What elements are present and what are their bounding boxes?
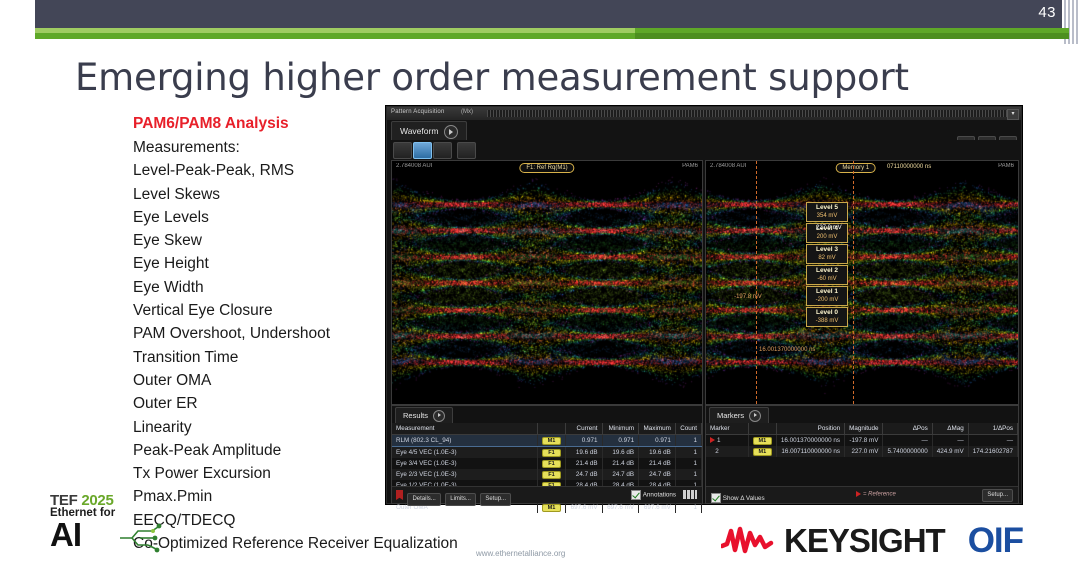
window-title: Pattern Acquisition xyxy=(391,109,445,115)
cell-inv-dpos: — xyxy=(968,435,1017,447)
marker-line-2[interactable] xyxy=(853,161,854,404)
pam-mode-label-right: PAM6 xyxy=(998,163,1014,169)
col-source xyxy=(748,423,776,435)
level-annotation-2[interactable]: Level 2 -60 mV xyxy=(806,265,848,285)
tab-markers-label: Markers xyxy=(717,408,744,423)
level-annotation-1[interactable]: Level 1 -200 mV xyxy=(806,286,848,306)
tef-logo-ai-text: AI xyxy=(50,516,81,553)
eye-diagram-left xyxy=(392,161,702,404)
marker-time-label: 16.001370000000 ns xyxy=(759,347,815,353)
tab-waveform[interactable]: Waveform xyxy=(391,121,467,141)
eye-diagram-right xyxy=(706,161,1018,404)
function-pill-left[interactable]: F1: Ref Rq(M1) xyxy=(519,163,574,173)
cell-minimum: 21.4 dB xyxy=(602,458,639,469)
level-value: 82 mV xyxy=(807,254,847,262)
col-marker: Marker xyxy=(706,423,748,435)
annotations-label: Annotations xyxy=(643,492,676,499)
footer-url: www.ethernetalliance.org xyxy=(476,549,565,558)
oif-wordmark: OIF xyxy=(968,521,1023,561)
reference-marker-icon xyxy=(710,437,715,443)
pam-mode-label-left: PAM6 xyxy=(682,163,698,169)
page-title: Emerging higher order measurement suppor… xyxy=(75,56,975,99)
cell-count: 1 xyxy=(675,447,701,459)
table-row[interactable]: Eye 2/3 VEC (1.0E-3)F124.7 dB24.7 dB24.7… xyxy=(392,469,702,480)
cell-maximum: 0.971 xyxy=(639,435,676,447)
cell-minimum: 19.6 dB xyxy=(602,447,639,459)
cell-marker: 2 xyxy=(706,446,748,457)
cell-current: 0.971 xyxy=(565,435,602,447)
source-badge: F1 xyxy=(542,471,561,479)
circuit-icon xyxy=(118,523,164,553)
view-button-3[interactable] xyxy=(433,142,452,159)
table-row[interactable]: RLM (802.3 CL_94)M10.9710.9710.9711 xyxy=(392,435,702,447)
source-badge: M1 xyxy=(753,448,772,456)
cell-measurement: Eye 4/5 VEC (1.0E-3) xyxy=(392,447,537,459)
results-header-row: Measurement Current Minimum Maximum Coun… xyxy=(392,423,702,435)
markers-pane: Markers Marker Position Magnitude ΔPos Δ… xyxy=(705,405,1019,504)
level-name: Level 5 xyxy=(807,204,847,212)
cell-current: 24.7 dB xyxy=(565,469,602,480)
window-titlebar: Pattern Acquisition (Mx) ▾ xyxy=(387,107,1021,120)
header-green-bar-dark xyxy=(635,33,1069,39)
cell-source: M1 xyxy=(748,446,776,457)
keysight-oif-logos: KEYSIGHT OIF xyxy=(721,521,1023,561)
level-value: -388 mV xyxy=(807,317,847,325)
vertical-scale-label-right: 2.784008 AUI xyxy=(710,163,746,169)
details-button[interactable]: Details... xyxy=(407,493,440,506)
window-title-tab: (Mx) xyxy=(461,109,473,115)
cell-dmag: — xyxy=(932,435,968,447)
cell-magnitude: -197.8 mV xyxy=(845,435,883,447)
play-icon[interactable] xyxy=(749,410,761,422)
col-maximum: Maximum xyxy=(639,423,676,435)
col-current: Current xyxy=(565,423,602,435)
cell-source: F1 xyxy=(537,469,565,480)
waveform-view-right[interactable]: 2.784008 AUI PAM6 Memory 1 07110000000 n… xyxy=(705,160,1019,405)
markers-header-row: Marker Position Magnitude ΔPos ΔMag 1/ΔP… xyxy=(706,423,1018,435)
cell-position: 16.007110000000 ns xyxy=(776,446,844,457)
level-name: Level 3 xyxy=(807,246,847,254)
annotations-checkbox[interactable]: Annotations xyxy=(631,490,676,500)
reference-marker-icon xyxy=(856,491,861,497)
cell-maximum: 19.6 dB xyxy=(639,447,676,459)
play-icon[interactable] xyxy=(433,410,445,422)
cell-measurement: Eye 3/4 VEC (1.0E-3) xyxy=(392,458,537,469)
table-row[interactable]: Eye 3/4 VEC (1.0E-3)F121.4 dB21.4 dB21.4… xyxy=(392,458,702,469)
cell-source: M1 xyxy=(748,435,776,447)
tef-logo: TEF 2025 Ethernet for AI xyxy=(50,492,162,551)
cell-minimum: 697.6 mV xyxy=(602,502,639,513)
level-name: Level 1 xyxy=(807,288,847,296)
tab-results[interactable]: Results xyxy=(395,407,453,423)
cell-source: F1 xyxy=(537,458,565,469)
source-badge: M1 xyxy=(542,504,561,512)
cell-inv-dpos: 174.21602787 xyxy=(968,446,1017,457)
table-row[interactable]: Eye 4/5 VEC (1.0E-3)F119.6 dB19.6 dB19.6… xyxy=(392,447,702,459)
cell-position: 16.001370000000 ns xyxy=(776,435,844,447)
show-delta-values-label: Show Δ Values xyxy=(723,495,765,502)
results-pane: Results Measurement Current Minimum Maxi… xyxy=(391,405,703,504)
cell-marker: 1 xyxy=(706,435,748,447)
memory-pill-right[interactable]: Memory 1 xyxy=(835,163,876,173)
level-annotation-0[interactable]: Level 0 -388 mV xyxy=(806,307,848,327)
cell-measurement: RLM (802.3 CL_94) xyxy=(392,435,537,447)
col-magnitude: Magnitude xyxy=(845,423,883,435)
tab-waveform-label: Waveform xyxy=(400,122,438,141)
markers-footer: Show Δ Values = Reference Setup... xyxy=(706,486,1018,503)
marker-line-1[interactable] xyxy=(756,161,757,404)
source-badge: M1 xyxy=(542,437,561,445)
cell-dpos: 5.7400000000 xyxy=(883,446,932,457)
cell-current: 19.6 dB xyxy=(565,447,602,459)
col-source xyxy=(537,423,565,435)
play-icon[interactable] xyxy=(444,125,458,139)
reference-legend: = Reference xyxy=(856,491,896,498)
oscilloscope-window: Pattern Acquisition (Mx) ▾ Waveform ✛ ▾ … xyxy=(386,106,1022,504)
grid-icon[interactable] xyxy=(683,490,697,499)
results-footer: Details... Limits... Setup... Annotation… xyxy=(392,486,702,503)
waveform-view-left[interactable]: 2.784008 AUI PAM6 F1: Ref Rq(M1) xyxy=(391,160,703,405)
cell-magnitude: 227.0 mV xyxy=(845,446,883,457)
col-minimum: Minimum xyxy=(602,423,639,435)
cell-count: 1 xyxy=(675,502,701,513)
header-navy-band xyxy=(35,0,1069,28)
cell-dpos: — xyxy=(883,435,932,447)
cell-maximum: 697.6 mV xyxy=(639,502,676,513)
titlebar-gripper[interactable] xyxy=(487,110,1007,117)
cell-source: F1 xyxy=(537,447,565,459)
tab-results-label: Results xyxy=(403,408,428,423)
checkbox-icon[interactable] xyxy=(631,490,641,500)
cell-minimum: 0.971 xyxy=(602,435,639,447)
keysight-wordmark: KEYSIGHT xyxy=(784,522,945,560)
list-item: Co-Optimized Reference Receiver Equaliza… xyxy=(133,532,533,555)
level-value: -60 mV xyxy=(807,275,847,283)
view-button-2-selected[interactable] xyxy=(413,142,432,159)
level-value: 354 mV xyxy=(807,212,847,220)
chevron-down-icon[interactable]: ▾ xyxy=(1007,109,1019,120)
tef-logo-ai: AI xyxy=(50,519,162,551)
markers-table: Marker Position Magnitude ΔPos ΔMag 1/ΔP… xyxy=(706,423,1018,457)
col-count: Count xyxy=(675,423,701,435)
slide-number: 43 xyxy=(1038,4,1056,21)
slide-header: 43 xyxy=(0,0,1080,28)
level-annotation-5[interactable]: Level 5 354 mV xyxy=(806,202,848,222)
source-badge: F1 xyxy=(542,460,561,468)
cell-dmag: 424.9 mV xyxy=(932,446,968,457)
source-badge: M1 xyxy=(753,437,772,445)
level-name: Level 0 xyxy=(807,309,847,317)
level-name: Level 2 xyxy=(807,267,847,275)
checkbox-icon[interactable] xyxy=(711,493,721,503)
cell-current: 697.6 mV xyxy=(565,502,602,513)
col-inv-dpos: 1/ΔPos xyxy=(968,423,1017,435)
cell-measurement: Eye 2/3 VEC (1.0E-3) xyxy=(392,469,537,480)
view-button-1[interactable] xyxy=(393,142,412,159)
waveform-view-buttons xyxy=(387,140,1021,160)
cell-minimum: 24.7 dB xyxy=(602,469,639,480)
table-row[interactable]: 2M116.007110000000 ns227.0 mV5.740000000… xyxy=(706,446,1018,457)
level-value: -200 mV xyxy=(807,296,847,304)
vertical-scale-label-left: 2.784008 AUI xyxy=(396,163,432,169)
cell-current: 21.4 dB xyxy=(565,458,602,469)
level-value: 200 mV xyxy=(807,233,847,241)
memory-time-label: 07110000000 ns xyxy=(887,164,931,170)
cell-maximum: 24.7 dB xyxy=(639,469,676,480)
level-annotation-3[interactable]: Level 3 82 mV xyxy=(806,244,848,264)
cell-count: 1 xyxy=(675,458,701,469)
source-badge: F1 xyxy=(542,449,561,457)
markers-setup-button[interactable]: Setup... xyxy=(982,489,1013,502)
col-dpos: ΔPos xyxy=(883,423,932,435)
marker-magnitude-label: -197.8 mV xyxy=(734,294,762,300)
flag-icon[interactable] xyxy=(396,490,403,500)
tab-markers[interactable]: Markers xyxy=(709,407,769,423)
keysight-wave-icon xyxy=(721,524,775,558)
limits-button[interactable]: Limits... xyxy=(445,493,476,506)
col-dmag: ΔMag xyxy=(932,423,968,435)
view-button-4[interactable] xyxy=(457,142,476,159)
marker-overlay-value: 227.0 mV xyxy=(816,225,842,231)
cell-count: 1 xyxy=(675,469,701,480)
col-measurement: Measurement xyxy=(392,423,537,435)
reference-legend-label: = Reference xyxy=(863,492,896,498)
show-delta-values-checkbox[interactable]: Show Δ Values xyxy=(711,495,765,502)
col-position: Position xyxy=(776,423,844,435)
cell-source: M1 xyxy=(537,435,565,447)
table-row[interactable]: 1M116.001370000000 ns-197.8 mV——— xyxy=(706,435,1018,447)
setup-button[interactable]: Setup... xyxy=(480,493,511,506)
cell-count: 1 xyxy=(675,435,701,447)
header-green-bar-light xyxy=(35,28,635,33)
cell-source: M1 xyxy=(537,502,565,513)
waveform-tab-row: Waveform ✛ ▾ ☰ xyxy=(387,120,1021,141)
cell-maximum: 21.4 dB xyxy=(639,458,676,469)
